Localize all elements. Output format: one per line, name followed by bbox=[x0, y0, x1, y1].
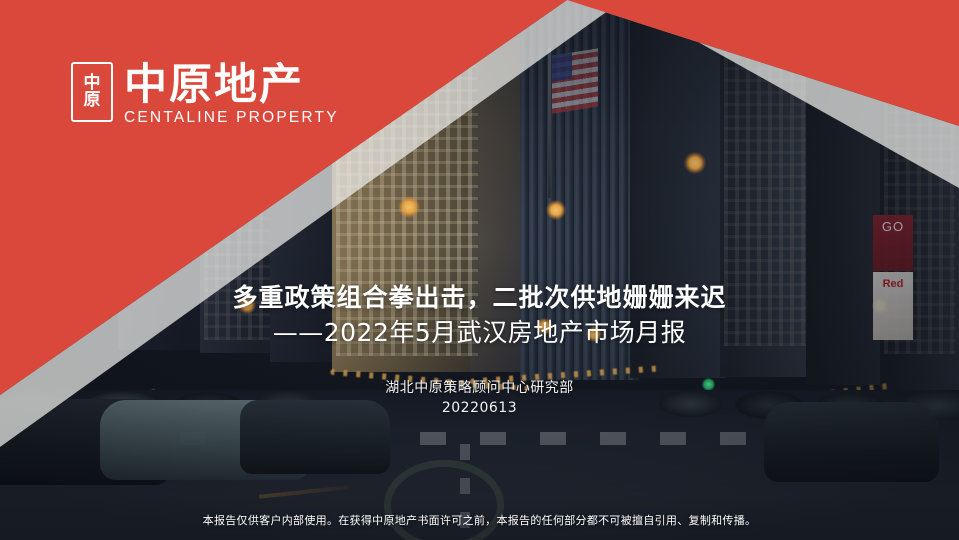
subtitle-department: 湖北中原策略顾问中心研究部 bbox=[0, 378, 959, 398]
seal-char-bottom: 原 bbox=[84, 92, 101, 109]
title-block: 多重政策组合拳出击，二批次供地姗姗来迟 ——2022年5月武汉房地产市场月报 bbox=[0, 282, 959, 350]
logo-name-en: CENTALINE PROPERTY bbox=[124, 109, 339, 127]
subtitle-block: 湖北中原策略顾问中心研究部 20220613 bbox=[0, 378, 959, 418]
subtitle-date: 20220613 bbox=[0, 398, 959, 418]
title-line-2: ——2022年5月武汉房地产市场月报 bbox=[0, 316, 959, 350]
centaline-logo: 中 原 中原地产 CENTALINE PROPERTY bbox=[71, 62, 339, 127]
title-line-1: 多重政策组合拳出击，二批次供地姗姗来迟 bbox=[0, 282, 959, 314]
logo-text-block: 中原地产 CENTALINE PROPERTY bbox=[124, 62, 339, 127]
centaline-seal-icon: 中 原 bbox=[71, 62, 113, 122]
title-slide: GO Red 中 原 中原地产 CENTALINE PROPERTY 多重政策 bbox=[0, 0, 959, 540]
logo-name-cn: 中原地产 bbox=[124, 62, 339, 108]
footer-disclaimer: 本报告仅供客户内部使用。在获得中原地产书面许可之前，本报告的任何部分都不可被擅自… bbox=[0, 512, 959, 528]
